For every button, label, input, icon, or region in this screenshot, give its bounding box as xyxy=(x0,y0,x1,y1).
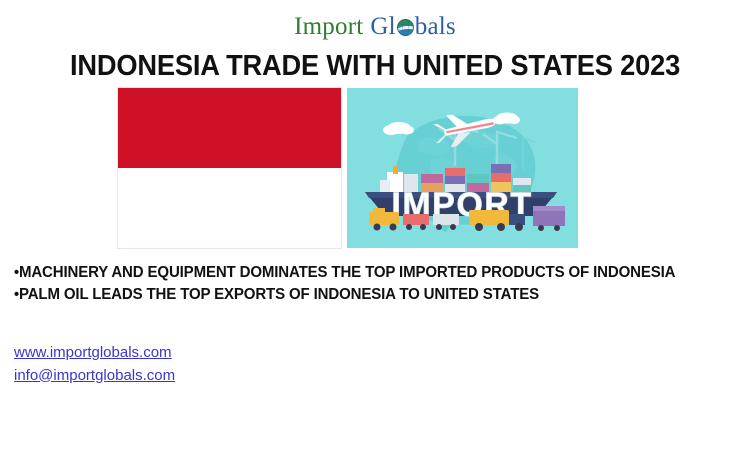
logo-word-import: Import xyxy=(294,13,363,40)
logo-text-block: ImportGl bals xyxy=(294,14,456,39)
list-item: •PALM OIL LEADS THE TOP EXPORTS OF INDON… xyxy=(14,284,722,306)
email-link[interactable]: info@importglobals.com xyxy=(14,365,175,388)
bullet-text: MACHINERY AND EQUIPMENT DOMINATES THE TO… xyxy=(19,264,675,281)
contact-links: www.importglobals.com info@importglobals… xyxy=(14,342,175,387)
logo-word-gl: Gl xyxy=(370,13,395,40)
import-illustration: IMPORT xyxy=(347,88,578,248)
list-item: •MACHINERY AND EQUIPMENT DOMINATES THE T… xyxy=(14,262,722,284)
brand-logo[interactable]: ImportGl bals xyxy=(0,14,750,39)
globe-icon xyxy=(396,17,415,36)
bullet-text: PALM OIL LEADS THE TOP EXPORTS OF INDONE… xyxy=(19,286,539,303)
page-title: INDONESIA TRADE WITH UNITED STATES 2023 xyxy=(23,50,728,83)
bullet-list: •MACHINERY AND EQUIPMENT DOMINATES THE T… xyxy=(14,262,744,306)
flag-stripe-red xyxy=(118,88,341,168)
flag-stripe-white xyxy=(118,168,341,248)
website-link[interactable]: www.importglobals.com xyxy=(14,342,172,365)
logo-word-bals: bals xyxy=(415,13,456,40)
indonesia-flag xyxy=(118,88,341,248)
media-band: IMPORT xyxy=(118,88,578,248)
